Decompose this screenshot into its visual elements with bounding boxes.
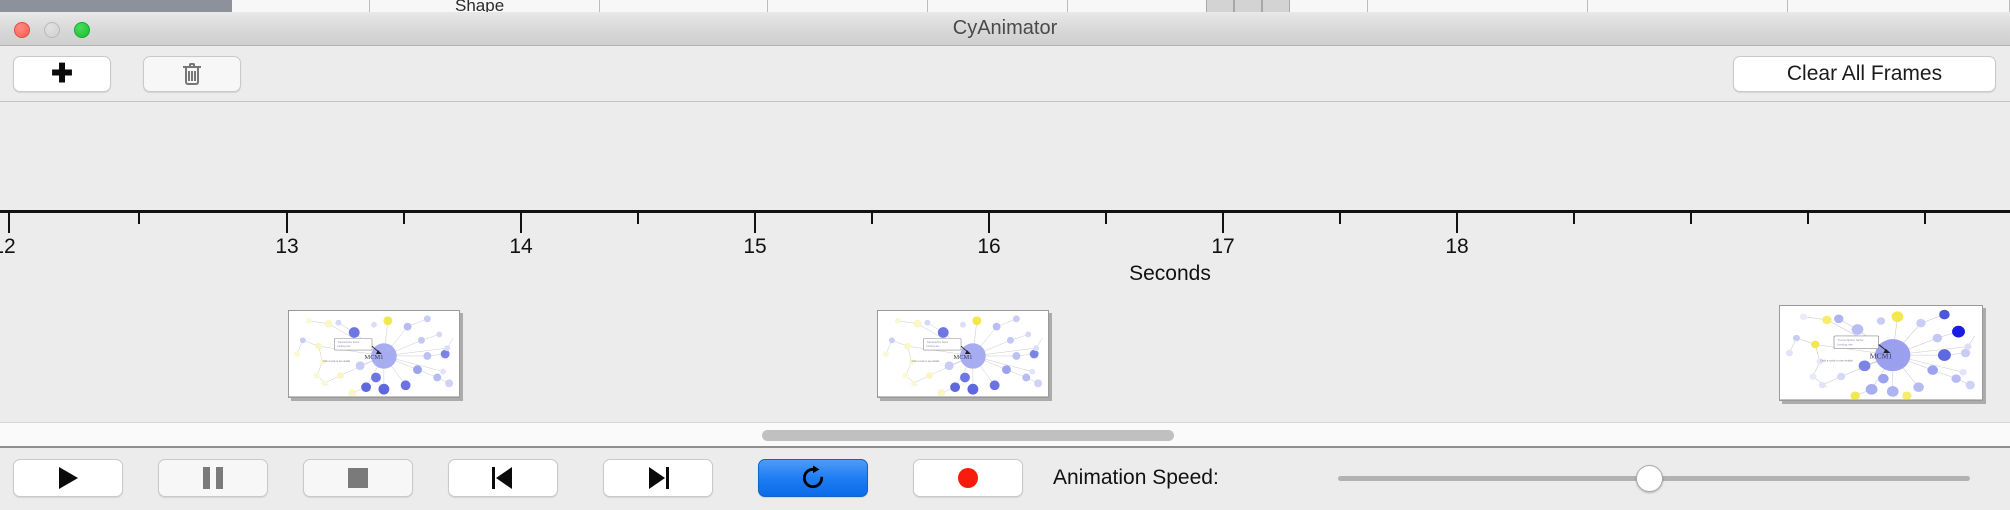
skip-previous-icon (492, 467, 514, 489)
timeline-panel[interactable]: Transcription factor binding site MCM1 C… (0, 102, 2010, 422)
background-tab (1068, 0, 1218, 12)
ruler-label: 12 (0, 235, 34, 259)
loop-refresh-icon (800, 465, 826, 491)
ruler-label: 16 (959, 235, 1019, 259)
background-swatch (1206, 0, 1234, 12)
loop-button[interactable] (758, 459, 868, 497)
ruler-tick-minor (1339, 213, 1341, 224)
background-tab (768, 0, 928, 12)
cyanimator-window: CyAnimator ✚ Clear All Frames (0, 12, 2010, 510)
thumbnail-base-shadow (288, 396, 460, 398)
svg-text:Click a node to see details: Click a node to see details (912, 360, 940, 363)
network-preview: Transcription factor binding site MCM1 C… (289, 311, 459, 397)
ruler-tick-minor (1807, 213, 1809, 224)
stop-icon (348, 468, 368, 488)
network-preview: Transcription factor binding site MCM1 C… (1780, 306, 1982, 400)
background-app-strip: Shape (0, 0, 2010, 12)
svg-text:Transcription factor: Transcription factor (1838, 338, 1864, 342)
svg-text:Transcription factor: Transcription factor (337, 340, 359, 344)
svg-text:Click a node to see details: Click a node to see details (323, 360, 351, 363)
timeline-axis-title: Seconds (0, 262, 2010, 286)
playback-toolbar: Animation Speed: (0, 448, 2010, 508)
ruler-tick-major (754, 213, 756, 233)
background-tab (1588, 0, 1788, 12)
plus-icon: ✚ (51, 60, 73, 86)
svg-text:MCM1: MCM1 (365, 354, 384, 361)
stop-button[interactable] (303, 459, 413, 497)
play-icon (59, 467, 78, 489)
background-tab (232, 0, 370, 12)
svg-text:MCM1: MCM1 (954, 354, 973, 361)
clear-all-frames-button[interactable]: Clear All Frames (1733, 56, 1996, 92)
background-tab (600, 0, 768, 12)
animation-speed-slider[interactable] (1338, 476, 1970, 482)
timeline-ruler[interactable] (0, 210, 2010, 213)
svg-text:Click a node to see details: Click a node to see details (1820, 359, 1854, 363)
delete-frame-button[interactable] (143, 56, 241, 92)
play-button[interactable] (13, 459, 123, 497)
keyframe-thumbnail[interactable]: Transcription factor binding site MCM1 C… (877, 310, 1049, 398)
ruler-tick-minor (1690, 213, 1692, 224)
ruler-label: 14 (491, 235, 551, 259)
ruler-tick-major (1456, 213, 1458, 233)
window-titlebar: CyAnimator (0, 12, 2010, 46)
ruler-tick-minor (871, 213, 873, 224)
ruler-tick-major (520, 213, 522, 233)
background-tab (1368, 0, 1588, 12)
background-tab (928, 0, 1068, 12)
ruler-tick-minor (138, 213, 140, 224)
ruler-tick-major (1222, 213, 1224, 233)
thumbnail-base-shadow (877, 396, 1049, 398)
record-icon (958, 468, 978, 488)
window-title: CyAnimator (0, 12, 2010, 46)
pause-button[interactable] (158, 459, 268, 497)
svg-text:MCM1: MCM1 (1870, 353, 1893, 361)
ruler-label: 17 (1193, 235, 1253, 259)
ruler-label: 15 (725, 235, 785, 259)
pause-icon (203, 467, 223, 489)
ruler-tick-minor (1924, 213, 1926, 224)
ruler-tick-minor (1573, 213, 1575, 224)
skip-next-icon (647, 467, 669, 489)
thumbnail-base-shadow (1779, 399, 1983, 401)
ruler-label: 18 (1427, 235, 1487, 259)
animation-speed-label: Animation Speed: (1053, 466, 1219, 490)
frame-toolbar: ✚ Clear All Frames (0, 46, 2010, 102)
ruler-label: 13 (257, 235, 317, 259)
prev-frame-button[interactable] (448, 459, 558, 497)
svg-text:Transcription factor: Transcription factor (926, 340, 948, 344)
ruler-tick-minor (637, 213, 639, 224)
next-frame-button[interactable] (603, 459, 713, 497)
keyframe-thumbnail[interactable]: Transcription factor binding site MCM1 C… (1779, 305, 1983, 401)
background-tab (1788, 0, 2010, 12)
background-label-shape: Shape (455, 0, 504, 12)
svg-text:binding site: binding site (926, 344, 940, 348)
ruler-tick-minor (403, 213, 405, 224)
background-swatch (1234, 0, 1262, 12)
ruler-tick-major (286, 213, 288, 233)
record-button[interactable] (913, 459, 1023, 497)
ruler-tick-major (8, 213, 10, 233)
add-frame-button[interactable]: ✚ (13, 56, 111, 92)
background-dark-panel (0, 0, 232, 12)
trash-icon (183, 63, 201, 85)
ruler-tick-minor (1105, 213, 1107, 224)
keyframe-thumbnail[interactable]: Transcription factor binding site MCM1 C… (288, 310, 460, 398)
horizontal-scrollbar-thumb[interactable] (762, 430, 1174, 441)
horizontal-scrollbar-track[interactable] (0, 422, 2010, 448)
svg-text:binding site: binding site (1838, 343, 1854, 347)
svg-text:binding site: binding site (337, 344, 351, 348)
ruler-tick-major (988, 213, 990, 233)
background-swatch (1262, 0, 1290, 12)
slider-thumb[interactable] (1636, 465, 1663, 492)
network-preview: Transcription factor binding site MCM1 C… (878, 311, 1048, 397)
